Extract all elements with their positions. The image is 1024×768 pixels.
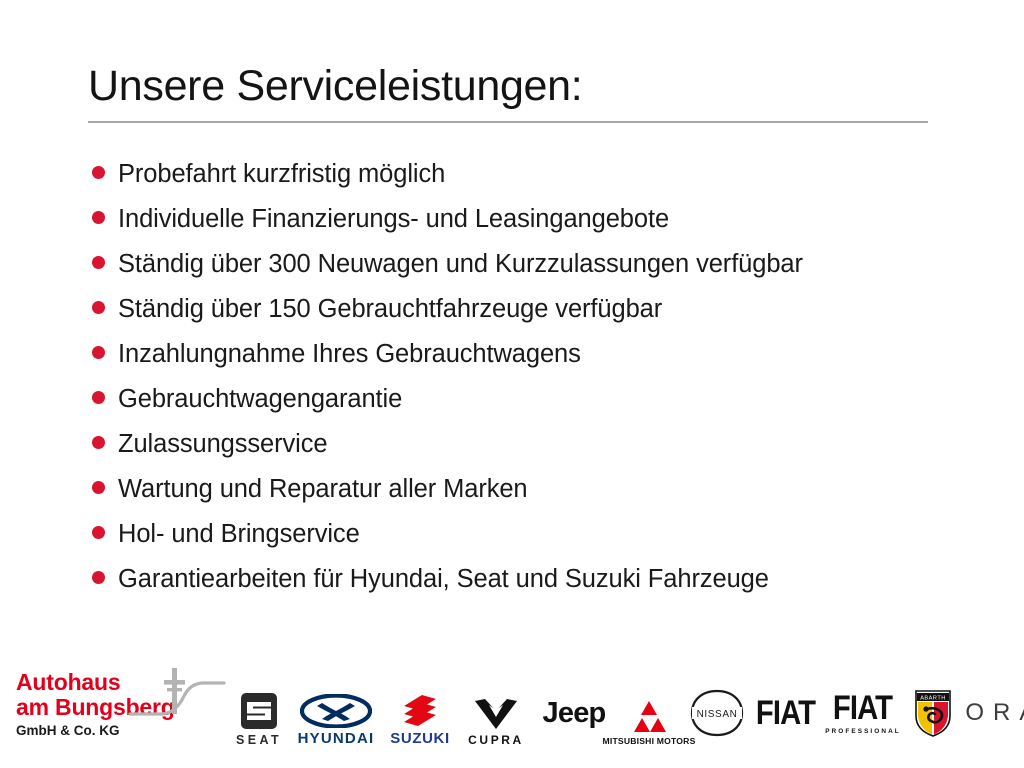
page-title: Unsere Serviceleistungen:	[88, 62, 928, 110]
bullet-dot-icon	[92, 526, 105, 539]
brand-logo-abarth: ABARTH	[904, 680, 962, 746]
brand-logo-hyundai: HYUNDAI	[290, 680, 382, 746]
bullet-dot-icon	[92, 211, 105, 224]
list-item-label: Probefahrt kurzfristig möglich	[118, 152, 445, 197]
list-item: Probefahrt kurzfristig möglich	[92, 152, 952, 197]
brand-logo-nissan: NISSAN	[684, 680, 750, 746]
title-divider	[88, 121, 928, 123]
brand-logo-mitsubishi: MITSUBISHI MOTORS	[614, 680, 684, 746]
dealer-logo-line3: GmbH & Co. KG	[16, 723, 226, 738]
footer-bar: Autohaus am Bungsberg GmbH & Co. KG SEAT	[0, 658, 1024, 768]
list-item-label: Hol- und Bringservice	[118, 512, 360, 557]
brand-label-fiat: FIAT	[756, 696, 815, 730]
brand-label-ora: ORA	[965, 699, 1024, 727]
list-item: Ständig über 300 Neuwagen und Kurzzulass…	[92, 242, 952, 287]
abarth-icon: ABARTH	[913, 688, 953, 738]
suzuki-icon	[400, 694, 440, 728]
list-item-label: Garantiearbeiten für Hyundai, Seat und S…	[118, 557, 769, 602]
bungsberg-hill-tower-graphic	[128, 666, 226, 722]
bullet-dot-icon	[92, 571, 105, 584]
list-item: Individuelle Finanzierungs- und Leasinga…	[92, 197, 952, 242]
brand-logo-cupra: CUPRA	[458, 680, 534, 746]
bullet-dot-icon	[92, 481, 105, 494]
list-item-label: Ständig über 150 Gebrauchtfahrzeuge verf…	[118, 287, 662, 332]
list-item-label: Individuelle Finanzierungs- und Leasinga…	[118, 197, 669, 242]
svg-text:NISSAN: NISSAN	[697, 709, 738, 720]
brand-label-fiat-professional: FIAT	[833, 691, 892, 725]
hyundai-icon	[300, 694, 372, 728]
brand-logo-seat: SEAT	[228, 680, 290, 746]
list-item: Gebrauchtwagengarantie	[92, 377, 952, 422]
brand-logo-fiat-professional: FIAT PROFESSIONAL	[822, 680, 904, 746]
brand-logo-strip: SEAT HYUNDAI SUZUKI	[228, 670, 1018, 756]
bullet-dot-icon	[92, 166, 105, 179]
list-item-label: Ständig über 300 Neuwagen und Kurzzulass…	[118, 242, 803, 287]
brand-label-hyundai: HYUNDAI	[298, 731, 375, 746]
slide-canvas: Unsere Serviceleistungen: Probefahrt kur…	[0, 0, 1024, 768]
brand-label-jeep: Jeep	[543, 699, 606, 728]
brand-logo-suzuki: SUZUKI	[382, 680, 458, 746]
seat-icon	[240, 692, 278, 730]
title-block: Unsere Serviceleistungen:	[88, 62, 928, 123]
list-item-label: Wartung und Reparatur aller Marken	[118, 467, 528, 512]
brand-label-seat: SEAT	[236, 734, 282, 747]
list-item-label: Gebrauchtwagengarantie	[118, 377, 402, 422]
list-item: Garantiearbeiten für Hyundai, Seat und S…	[92, 557, 952, 602]
bullet-dot-icon	[92, 301, 105, 314]
services-list: Probefahrt kurzfristig möglich Individue…	[92, 152, 952, 602]
list-item: Wartung und Reparatur aller Marken	[92, 467, 952, 512]
list-item: Inzahlungnahme Ihres Gebrauchtwagens	[92, 332, 952, 377]
brand-logo-ora: ORA GWM	[962, 680, 1024, 746]
list-item: Ständig über 150 Gebrauchtfahrzeuge verf…	[92, 287, 952, 332]
bullet-dot-icon	[92, 346, 105, 359]
bullet-dot-icon	[92, 436, 105, 449]
mitsubishi-icon	[630, 700, 668, 734]
list-item-label: Inzahlungnahme Ihres Gebrauchtwagens	[118, 332, 581, 377]
list-item-label: Zulassungsservice	[118, 422, 327, 467]
list-item: Hol- und Bringservice	[92, 512, 952, 557]
dealer-logo: Autohaus am Bungsberg GmbH & Co. KG	[16, 670, 226, 756]
svg-text:ABARTH: ABARTH	[920, 696, 946, 702]
brand-label-cupra: CUPRA	[468, 734, 524, 746]
brand-logo-fiat: FIAT	[750, 680, 822, 746]
brand-logo-jeep: Jeep	[534, 680, 614, 746]
brand-label-mitsubishi: MITSUBISHI MOTORS	[603, 737, 696, 746]
nissan-icon: NISSAN	[688, 687, 746, 739]
brand-sublabel-fiat-professional: PROFESSIONAL	[825, 728, 901, 735]
bullet-dot-icon	[92, 391, 105, 404]
cupra-icon	[473, 698, 519, 730]
brand-label-suzuki: SUZUKI	[390, 731, 449, 746]
list-item: Zulassungsservice	[92, 422, 952, 467]
bullet-dot-icon	[92, 256, 105, 269]
